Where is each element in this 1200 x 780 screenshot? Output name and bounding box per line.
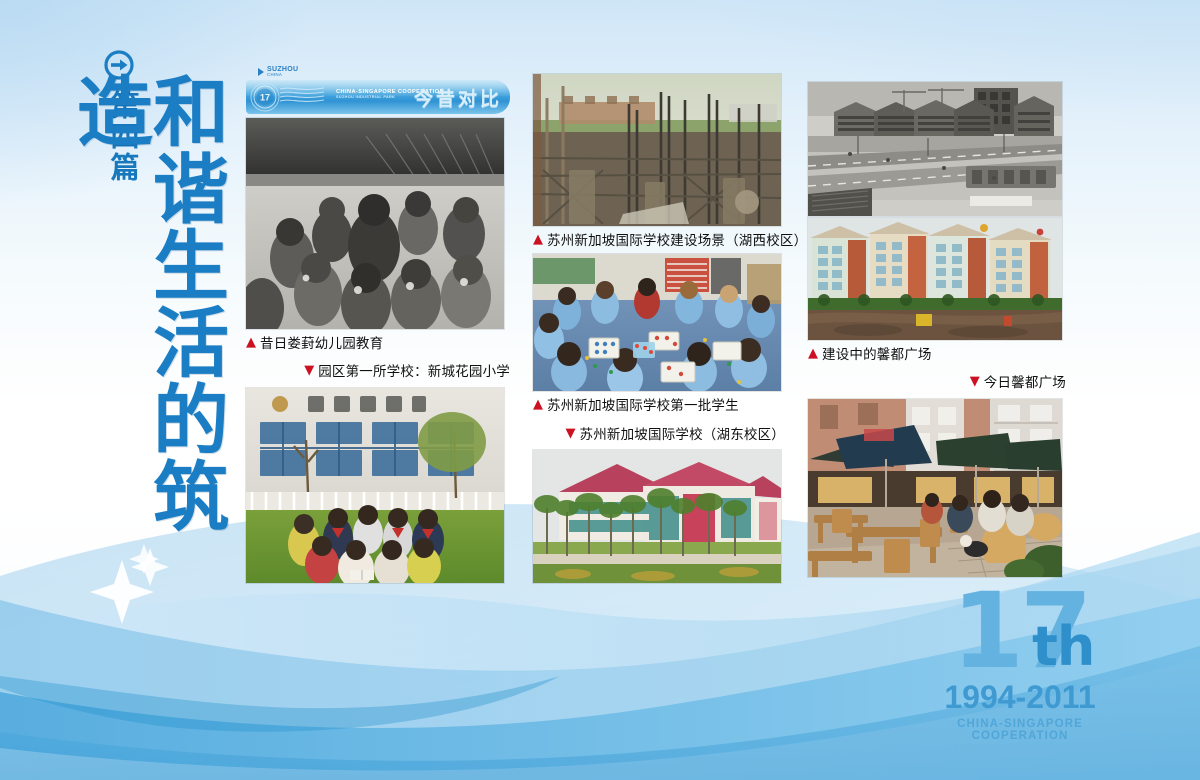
- seventeen-roundel-icon: 17: [250, 82, 280, 112]
- anniversary-number: 17th: [952, 588, 1089, 675]
- caption-bullet-down-icon: ▼: [566, 425, 576, 444]
- banner-chinese-title: 今昔对比: [414, 84, 502, 111]
- anniversary-logo: 17th 1994-2011 CHINA-SINGAPORE COOPERATI…: [920, 588, 1120, 748]
- caption-first-school: ▼ 园区第一所学校：新城花园小学: [246, 357, 510, 385]
- column-middle: ▲ 苏州新加坡国际学校建设场景（湖西校区）: [533, 74, 785, 583]
- caption-bullet-up-icon: ▲: [246, 334, 256, 353]
- kindergarten-historic-photo: [246, 118, 504, 329]
- sip-banner: SUZHOU CHINA 17: [246, 64, 510, 114]
- anniversary-line2: SUZHOU INDUSTRIAL PARK: [920, 743, 1120, 752]
- xindu-plaza-construction-bw-photo: [808, 82, 1062, 216]
- sip-mini-line2: CHINA: [267, 73, 298, 78]
- sis-construction-site-photo: [533, 74, 781, 226]
- poster-title-block: 第四篇 和谐生活的筑造: [96, 28, 236, 548]
- caption-bullet-down-icon: ▼: [304, 362, 314, 381]
- xindu-plaza-residential-photo: [808, 218, 1062, 340]
- svg-text:17: 17: [260, 93, 270, 103]
- caption-bullet-up-icon: ▲: [808, 345, 818, 364]
- xindu-plaza-today-photo: [808, 399, 1062, 577]
- sis-huadong-campus-photo: [533, 450, 781, 583]
- caption-kindergarten-historic: ▲ 昔日娄葑幼儿园教育: [246, 329, 510, 357]
- triangle-icon: [258, 68, 264, 76]
- sip-banner-bar: 17 CHINA-SINGAPORE COOPERATION SUZHOU IN…: [246, 80, 510, 114]
- caption-sis-huadong-campus: ▼ 苏州新加坡国际学校（湖东校区）: [533, 420, 785, 448]
- caption-bullet-down-icon: ▼: [970, 373, 980, 392]
- caption-xindu-today: ▼ 今日馨都广场: [808, 368, 1066, 396]
- caption-xindu-construction: ▲ 建设中的馨都广场: [808, 340, 1066, 368]
- caption-bullet-up-icon: ▲: [533, 231, 543, 250]
- anniversary-line1: CHINA-SINGAPORE COOPERATION: [920, 718, 1120, 742]
- page-title: 和谐生活的筑造: [136, 72, 222, 548]
- caption-sis-first-students: ▲ 苏州新加坡国际学校第一批学生: [533, 391, 785, 419]
- column-right: ▲ 建设中的馨都广场 ▼ 今日馨都广场: [808, 82, 1066, 577]
- column-left: SUZHOU CHINA 17: [246, 64, 510, 583]
- poster-canvas: 第四篇 和谐生活的筑造 SUZHOU CHINA 17: [0, 0, 1200, 780]
- caption-bullet-up-icon: ▲: [533, 396, 543, 415]
- sip-mini-logo: SUZHOU CHINA: [258, 66, 298, 78]
- anniversary-suffix: th: [1032, 624, 1094, 669]
- xincheng-garden-primary-school-photo: [246, 388, 504, 583]
- flag-lines-icon: [278, 85, 326, 107]
- caption-sis-construction: ▲ 苏州新加坡国际学校建设场景（湖西校区）: [533, 226, 785, 254]
- sis-first-students-photo: [533, 254, 781, 391]
